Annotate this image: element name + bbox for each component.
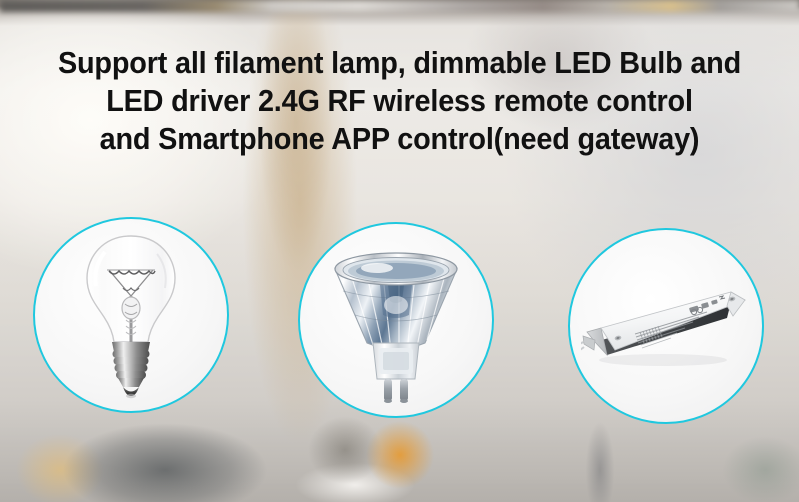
product-circle-led-driver: White rectangular LED driver power suppl…: [568, 228, 764, 424]
product-circle-filament-bulb: Clear glass incandescent filament lamp w…: [33, 217, 229, 413]
headline-line-3: and Smartphone APP control(need gateway): [28, 120, 771, 158]
product-circle-mr16-spotlight: MR16 reflector halogen / dimmable LED sp…: [298, 222, 494, 418]
mr16-spotlight-icon: [321, 235, 471, 405]
led-driver-icon: [581, 266, 751, 386]
filament-bulb-icon: [71, 230, 191, 400]
headline-line-1: Support all filament lamp, dimmable LED …: [28, 44, 771, 82]
headline-line-2: LED driver 2.4G RF wireless remote contr…: [28, 82, 771, 120]
product-feature-banner: Support all filament lamp, dimmable LED …: [0, 0, 799, 502]
headline: Support all filament lamp, dimmable LED …: [28, 44, 771, 158]
background-top-strip: [0, 0, 799, 12]
